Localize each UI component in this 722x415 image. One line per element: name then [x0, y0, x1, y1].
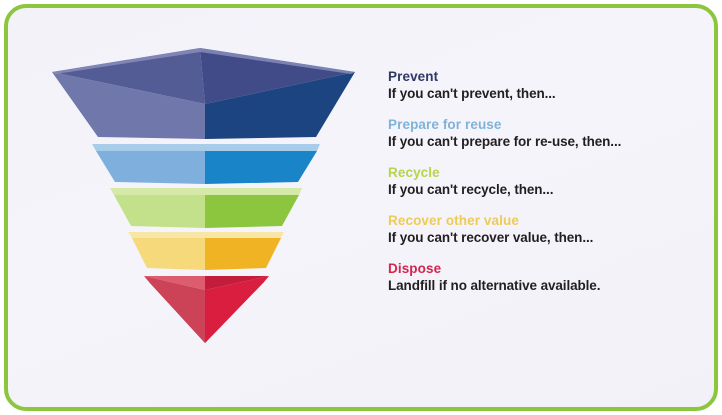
funnel-layer-recover-other-value[interactable]	[128, 232, 284, 270]
reuse-top-edge	[92, 144, 320, 151]
legend-item-recover-other-value[interactable]: Recover other value If you can't recover…	[388, 212, 688, 247]
legend-subtitle-recover-other-value: If you can't recover value, then...	[388, 229, 688, 247]
legend-item-prevent[interactable]: Prevent If you can't prevent, then...	[388, 68, 688, 103]
legend-title-recover-other-value: Recover other value	[388, 212, 688, 229]
legend-title-prepare-for-reuse: Prepare for reuse	[388, 116, 688, 133]
recover-front-right-face	[205, 238, 281, 270]
legend-title-recycle: Recycle	[388, 164, 688, 181]
dispose-tip-left	[149, 282, 205, 343]
funnel-layer-dispose[interactable]	[144, 276, 269, 343]
legend-title-dispose: Dispose	[388, 260, 688, 277]
recycle-front-right-face	[205, 195, 299, 228]
legend-item-dispose[interactable]: Dispose Landfill if no alternative avail…	[388, 260, 688, 295]
reuse-front-left-face	[96, 151, 205, 184]
legend-item-prepare-for-reuse[interactable]: Prepare for reuse If you can't prepare f…	[388, 116, 688, 151]
recycle-front-left-face	[114, 195, 205, 228]
funnel-layer-prevent[interactable]	[52, 48, 355, 139]
legend-title-prevent: Prevent	[388, 68, 688, 85]
legend-subtitle-recycle: If you can't recycle, then...	[388, 181, 688, 199]
legend-subtitle-prepare-for-reuse: If you can't prepare for re-use, then...	[388, 133, 688, 151]
legend-subtitle-prevent: If you can't prevent, then...	[388, 85, 688, 103]
legend-item-recycle[interactable]: Recycle If you can't recycle, then...	[388, 164, 688, 199]
legend-subtitle-dispose: Landfill if no alternative available.	[388, 277, 688, 295]
waste-hierarchy-funnel	[30, 38, 380, 358]
slide-canvas: Prevent If you can't prevent, then... Pr…	[0, 0, 722, 415]
recover-front-left-face	[132, 238, 205, 270]
reuse-front-right-face	[205, 151, 317, 184]
recover-top-edge	[128, 232, 284, 238]
recycle-top-edge	[110, 188, 302, 195]
funnel-layer-recycle[interactable]	[110, 188, 302, 228]
funnel-layer-prepare-for-reuse[interactable]	[92, 144, 320, 184]
legend-list: Prevent If you can't prevent, then... Pr…	[388, 68, 688, 295]
dispose-tip-right	[205, 282, 264, 343]
